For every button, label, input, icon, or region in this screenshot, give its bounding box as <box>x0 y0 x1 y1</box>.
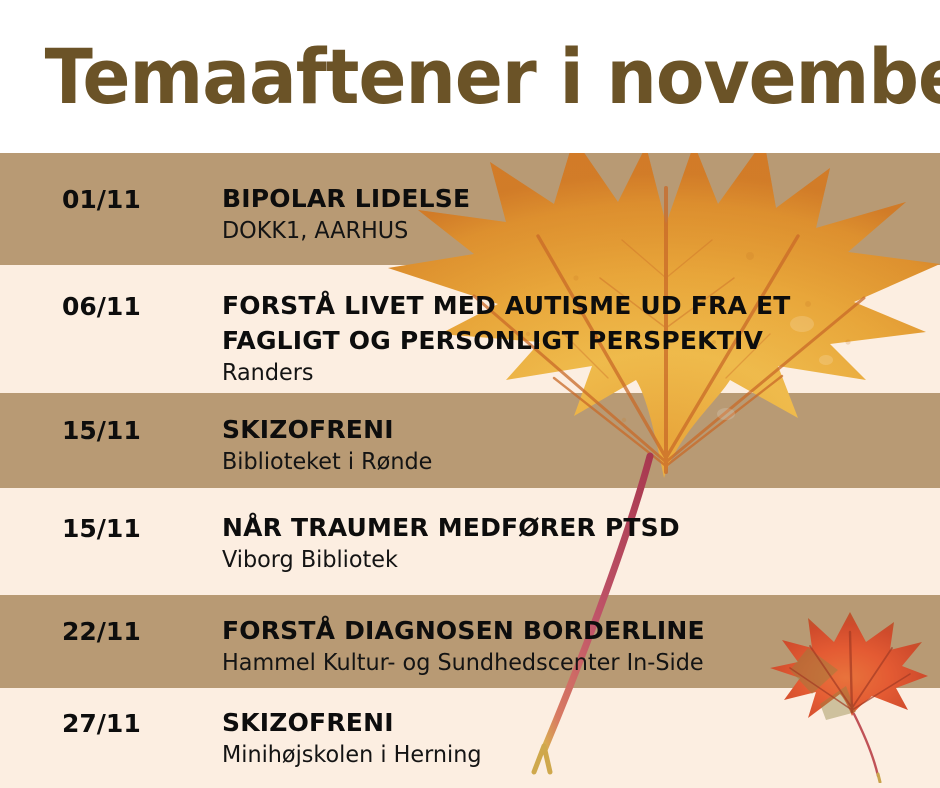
event-location: Randers <box>222 360 314 386</box>
event-title: SKIZOFRENI <box>222 705 394 740</box>
poster-canvas: Temaaftener i november 01/11 BIPOLAR LID… <box>0 0 940 788</box>
event-title-line: FORSTÅ DIAGNOSEN BORDERLINE <box>222 613 705 648</box>
event-title: BIPOLAR LIDELSE <box>222 181 470 216</box>
list-item[interactable]: 01/11 BIPOLAR LIDELSE DOKK1, AARHUS <box>0 153 940 265</box>
list-item[interactable]: 06/11 FORSTÅ LIVET MED AUTISME UD FRA ET… <box>0 265 940 393</box>
event-title-line: SKIZOFRENI <box>222 412 394 447</box>
event-location: Hammel Kultur- og Sundhedscenter In-Side <box>222 650 704 676</box>
list-item[interactable]: 15/11 SKIZOFRENI Biblioteket i Rønde <box>0 393 940 488</box>
page-title: Temaaftener i november <box>0 39 940 115</box>
event-title: FORSTÅ DIAGNOSEN BORDERLINE <box>222 613 705 648</box>
event-date: 15/11 <box>62 416 141 445</box>
event-date: 01/11 <box>62 185 141 214</box>
event-title-line: SKIZOFRENI <box>222 705 394 740</box>
event-date: 22/11 <box>62 617 141 646</box>
event-location: Biblioteket i Rønde <box>222 449 432 475</box>
event-date: 27/11 <box>62 709 141 738</box>
event-location: Minihøjskolen i Herning <box>222 742 482 768</box>
event-title-line: FORSTÅ LIVET MED AUTISME UD FRA ET <box>222 288 790 323</box>
list-item[interactable]: 27/11 SKIZOFRENI Minihøjskolen i Herning <box>0 688 940 788</box>
event-location: DOKK1, AARHUS <box>222 218 408 244</box>
event-location: Viborg Bibliotek <box>222 547 398 573</box>
event-title-line: FAGLIGT OG PERSONLIGT PERSPEKTIV <box>222 323 790 358</box>
event-title-line: NÅR TRAUMER MEDFØRER PTSD <box>222 510 680 545</box>
event-date: 15/11 <box>62 514 141 543</box>
event-title-line: BIPOLAR LIDELSE <box>222 181 470 216</box>
event-list: 01/11 BIPOLAR LIDELSE DOKK1, AARHUS 06/1… <box>0 153 940 788</box>
event-title: FORSTÅ LIVET MED AUTISME UD FRA ET FAGLI… <box>222 288 790 358</box>
title-bar: Temaaftener i november <box>0 0 940 153</box>
event-date: 06/11 <box>62 292 141 321</box>
event-title: NÅR TRAUMER MEDFØRER PTSD <box>222 510 680 545</box>
event-title: SKIZOFRENI <box>222 412 394 447</box>
list-item[interactable]: 22/11 FORSTÅ DIAGNOSEN BORDERLINE Hammel… <box>0 595 940 688</box>
list-item[interactable]: 15/11 NÅR TRAUMER MEDFØRER PTSD Viborg B… <box>0 488 940 595</box>
